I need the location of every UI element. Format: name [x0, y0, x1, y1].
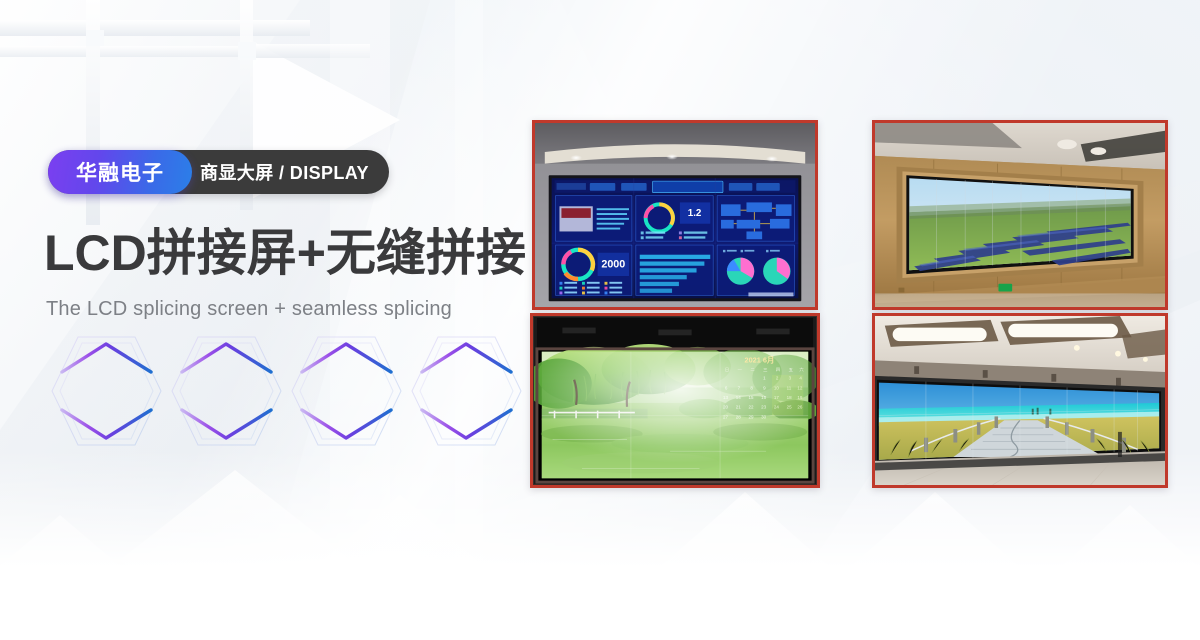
svg-text:13: 13: [723, 395, 729, 400]
svg-text:16: 16: [761, 395, 767, 400]
svg-text:二: 二: [750, 367, 755, 372]
svg-text:20: 20: [723, 405, 729, 410]
feature-label: 超稳运行: [288, 379, 405, 404]
photo-lake-willow-videowall-image: 2021 6月 日一二 三四五六 1234 6789101112 1314151…: [533, 316, 817, 485]
photo-control-room-dashboard-image: 1.2 2000: [535, 123, 815, 307]
svg-text:23: 23: [761, 405, 767, 410]
feature-item-ultra-stable-operation: 超稳运行: [288, 332, 405, 450]
feature-label: 安装便捷: [408, 379, 525, 404]
svg-text:四: 四: [776, 367, 780, 372]
feature-item-brand-panel: 品牌面板: [168, 332, 285, 450]
svg-text:30: 30: [761, 414, 767, 419]
feature-item-easy-installation: 安装便捷: [408, 332, 525, 450]
svg-text:一: 一: [738, 367, 743, 372]
photo-solar-farm-videowall: [872, 120, 1168, 310]
feature-label: 超低拼缝: [48, 379, 165, 404]
product-banner: 商显大屏 / DISPLAY 华融电子 LCD拼接屏+无缝拼接 The LCD …: [0, 0, 1200, 640]
photo-beach-boardwalk-videowall: [872, 313, 1168, 488]
page-title: LCD拼接屏+无缝拼接: [44, 228, 526, 278]
svg-text:2021 6月: 2021 6月: [745, 355, 775, 364]
photo-lake-willow-videowall: 2021 6月 日一二 三四五六 1234 6789101112 1314151…: [530, 313, 820, 488]
feature-label: 品牌面板: [168, 379, 285, 404]
page-subtitle: The LCD splicing screen + seamless splic…: [46, 298, 452, 321]
svg-text:28: 28: [736, 414, 742, 419]
category-badge-label: 商显大屏 / DISPLAY: [200, 159, 369, 185]
svg-text:29: 29: [748, 414, 754, 419]
svg-text:三: 三: [763, 367, 767, 372]
svg-text:21: 21: [736, 405, 742, 410]
svg-text:1.2: 1.2: [688, 208, 702, 219]
svg-text:14: 14: [736, 395, 742, 400]
brand-badge-label: 华融电子: [76, 157, 164, 187]
photo-solar-farm-videowall-image: [875, 123, 1165, 307]
category-badge: 商显大屏 / DISPLAY 华融电子: [48, 150, 389, 194]
svg-text:六: 六: [799, 366, 804, 373]
feature-list: 超低拼缝 品牌面板 超稳运行: [48, 332, 525, 450]
brand-badge: 华融电子: [48, 150, 192, 194]
feature-item-ultra-low-seam: 超低拼缝: [48, 332, 165, 450]
photo-beach-boardwalk-videowall-image: [875, 316, 1165, 485]
photo-control-room-dashboard: 1.2 2000: [532, 120, 818, 310]
svg-text:22: 22: [748, 405, 754, 410]
svg-text:27: 27: [723, 414, 729, 419]
svg-text:2000: 2000: [601, 258, 625, 270]
brand-badge-row: 商显大屏 / DISPLAY 华融电子: [48, 150, 389, 194]
svg-text:五: 五: [789, 367, 794, 372]
svg-text:15: 15: [748, 395, 754, 400]
